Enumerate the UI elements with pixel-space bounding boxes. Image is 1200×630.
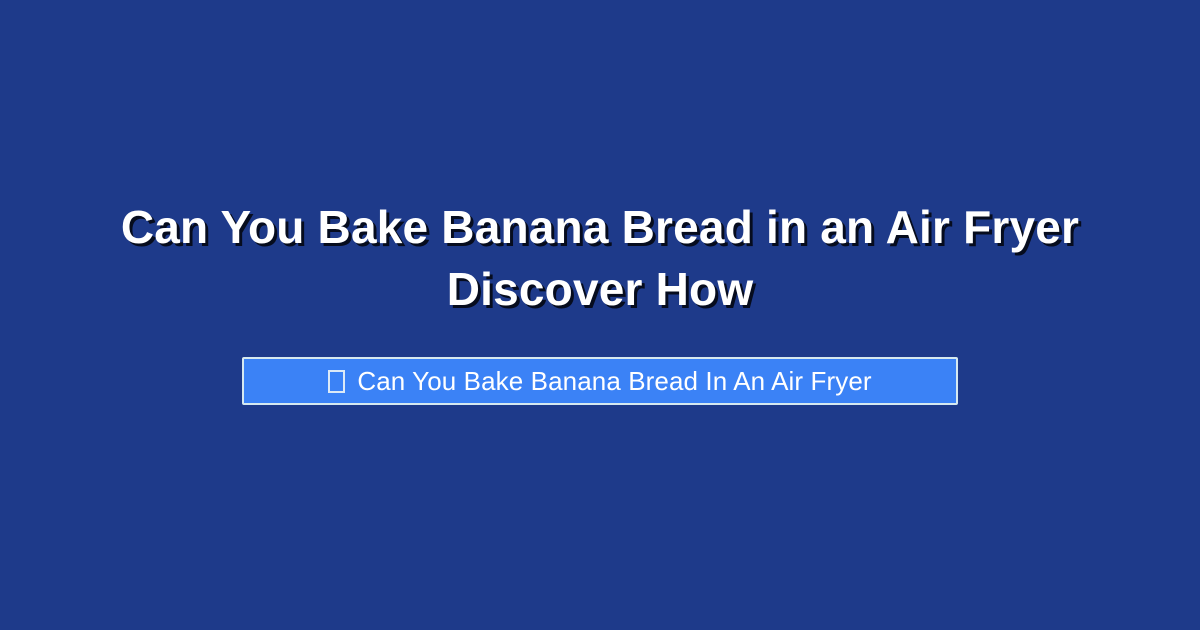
title-line-1: Can You Bake Banana Bread in an Air Frye…	[60, 196, 1140, 258]
badge-row: Can You Bake Banana Bread In An Air Frye…	[0, 357, 1200, 405]
topic-badge-button[interactable]: Can You Bake Banana Bread In An Air Frye…	[242, 357, 958, 405]
og-card: Can You Bake Banana Bread in an Air Frye…	[0, 0, 1200, 630]
title-line-2: Discover How	[60, 258, 1140, 320]
missing-glyph-box-icon	[328, 370, 345, 393]
topic-badge-label: Can You Bake Banana Bread In An Air Frye…	[357, 368, 871, 394]
page-title: Can You Bake Banana Bread in an Air Frye…	[0, 196, 1200, 320]
